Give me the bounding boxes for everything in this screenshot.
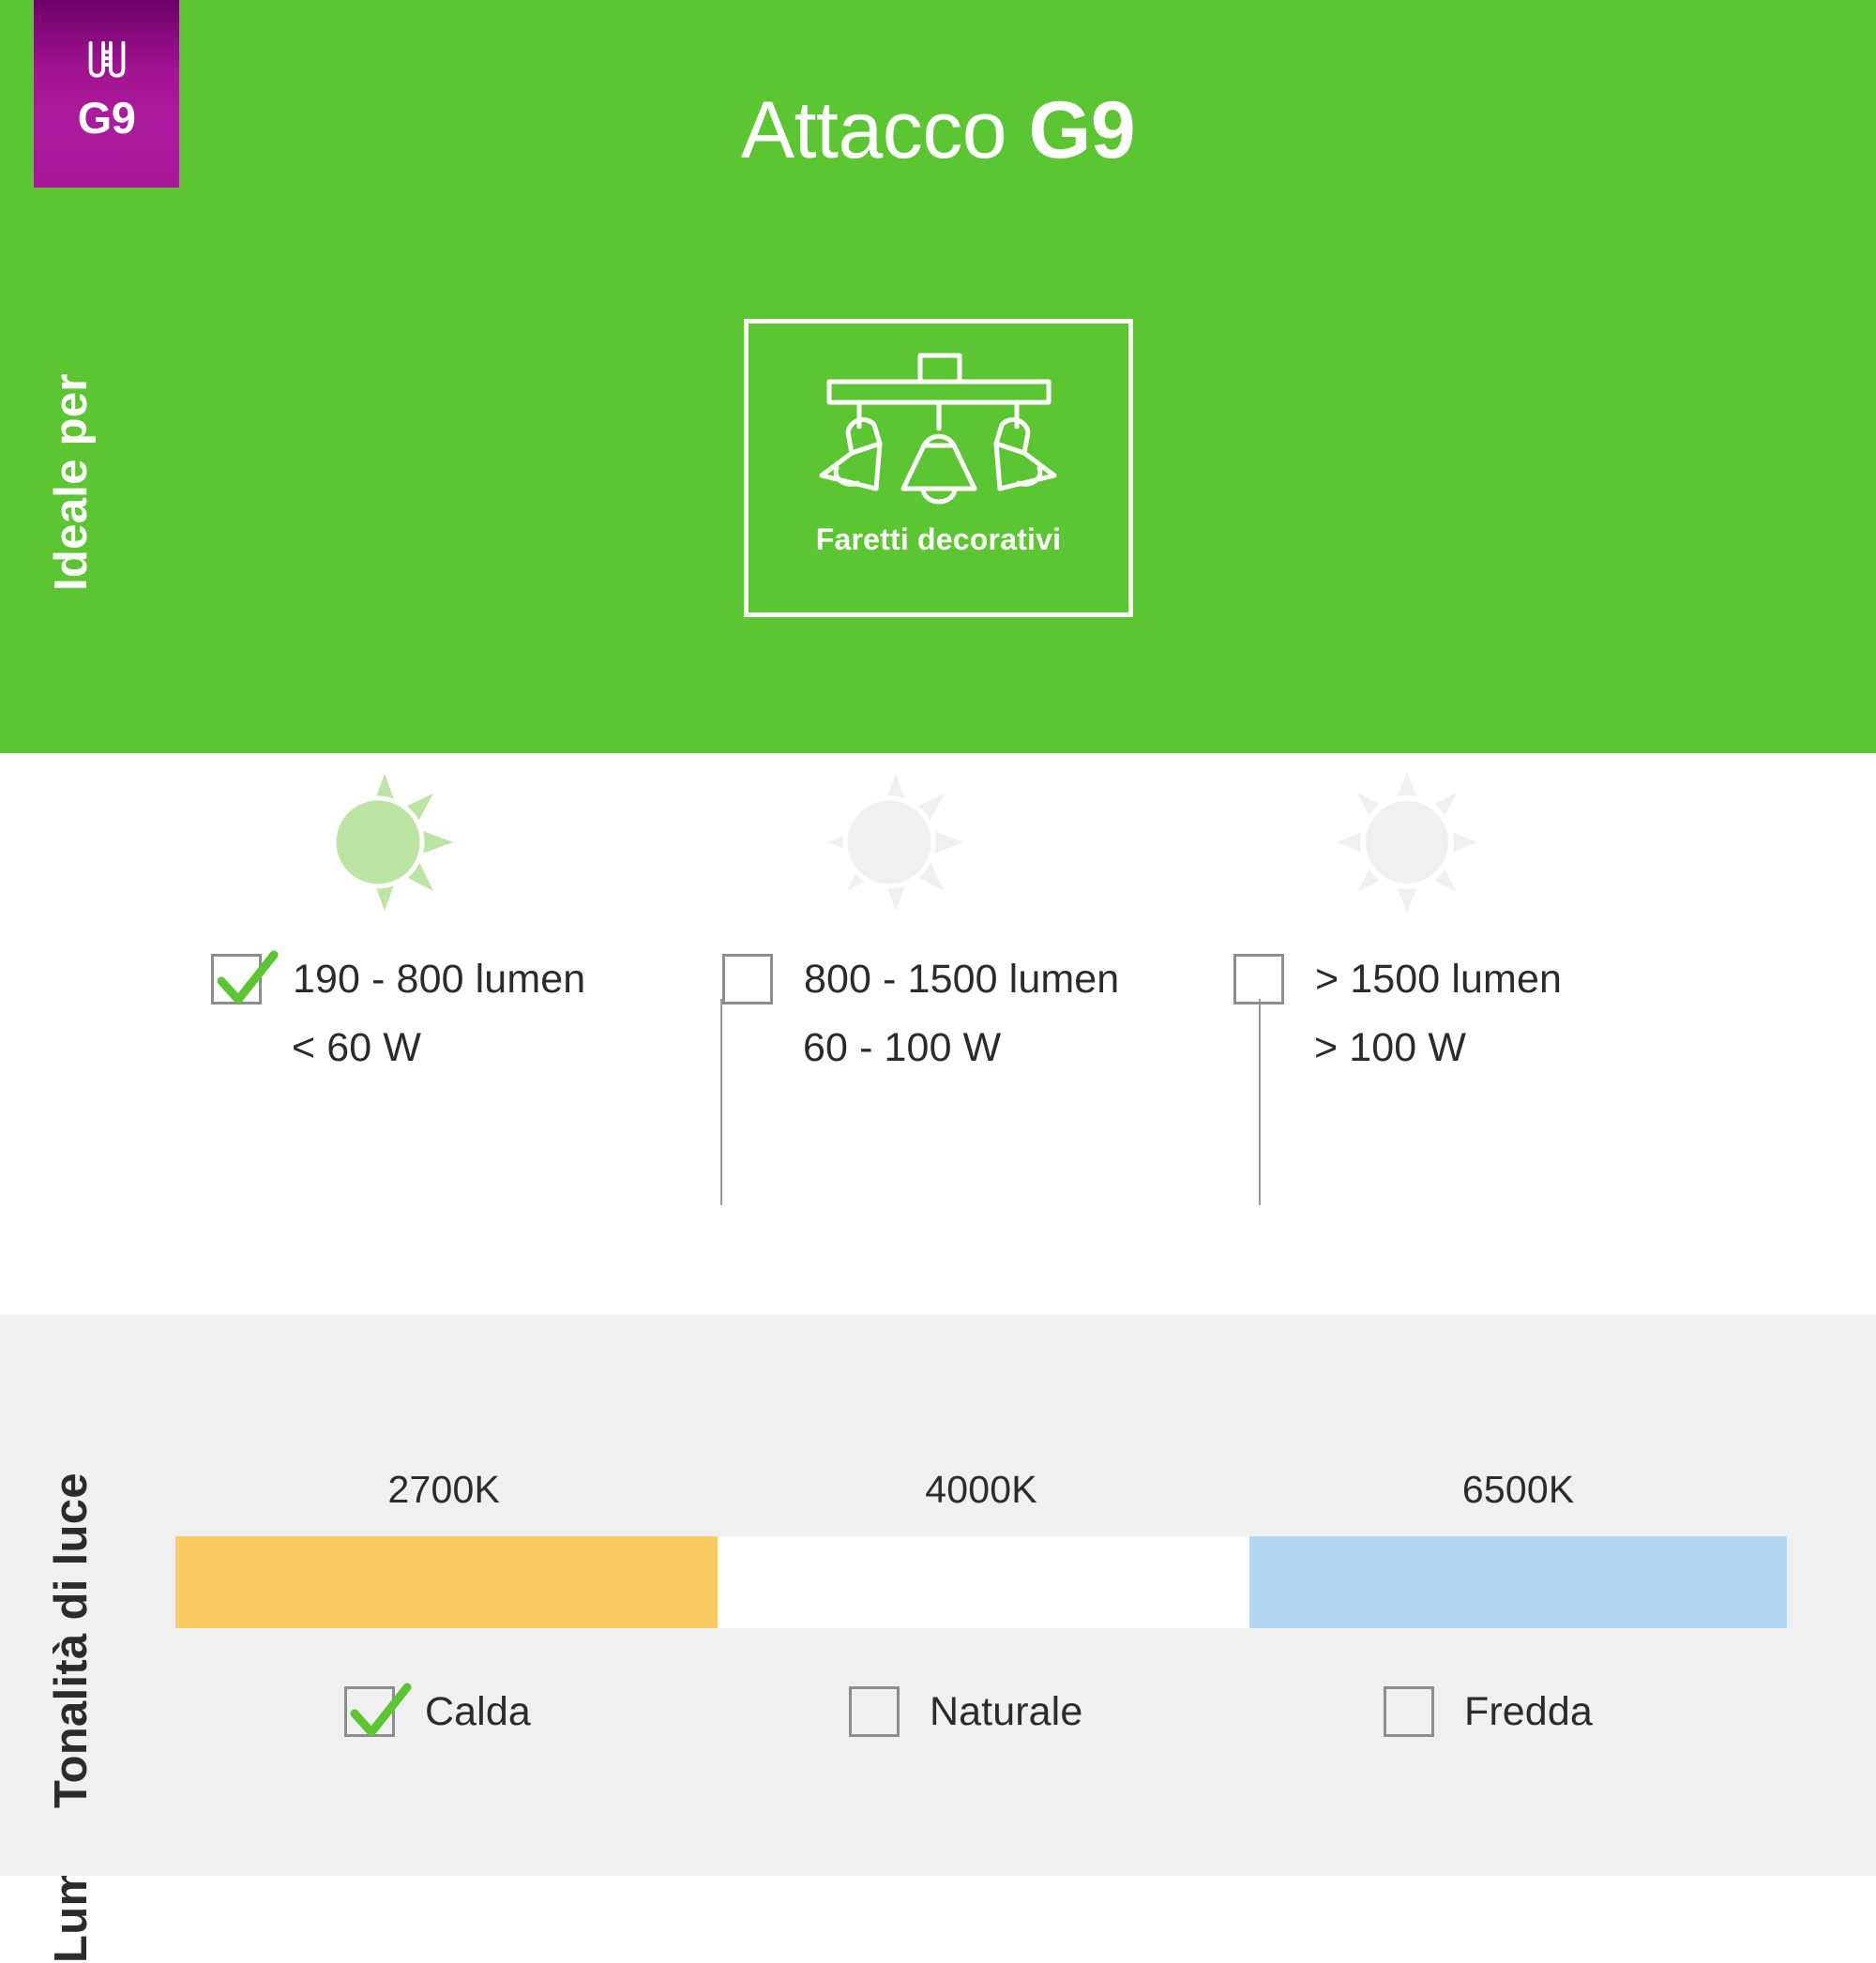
- brightness-checkbox-3[interactable]: [1233, 954, 1284, 1004]
- page-title: Attacco G9: [0, 90, 1876, 171]
- brightness-option-3: > 1500 lumen > 100 W: [1196, 753, 1707, 1315]
- tone-label-calda: Calda: [425, 1689, 531, 1735]
- brightness-lumen-label-3: > 1500 lumen: [1315, 957, 1562, 1003]
- brightness-watt-row-3: > 100 W: [1314, 1025, 1466, 1071]
- tone-checkbox-calda[interactable]: [344, 1686, 395, 1737]
- brightness-checkbox-row-1[interactable]: 190 - 800 lumen: [211, 954, 585, 1004]
- g9-bulb-base-icon: [78, 36, 136, 94]
- tone-label-fredda: Fredda: [1464, 1689, 1593, 1735]
- brightness-watt-label-3: > 100 W: [1314, 1025, 1466, 1071]
- brightness-watt-label-1: < 60 W: [292, 1025, 421, 1071]
- brightness-watt-label-2: 60 - 100 W: [803, 1025, 1001, 1071]
- tone-checkbox-fredda[interactable]: [1384, 1686, 1434, 1737]
- brightness-option-1: 190 - 800 lumen < 60 W: [174, 753, 685, 1315]
- infographic-page: G9 Attacco G9 Ideale per: [0, 0, 1876, 1876]
- page-title-plain: Attacco: [741, 85, 1029, 175]
- temp-segment-neutral: [718, 1536, 1249, 1628]
- brightness-lumen-label-2: 800 - 1500 lumen: [804, 957, 1119, 1003]
- brightness-option-2: 800 - 1500 lumen 60 - 100 W: [685, 753, 1196, 1315]
- hero-section: G9 Attacco G9 Ideale per: [0, 0, 1876, 753]
- check-icon: [210, 945, 281, 1017]
- brightness-checkbox-row-3[interactable]: > 1500 lumen: [1233, 954, 1562, 1004]
- temp-segment-warm: [175, 1536, 718, 1628]
- brightness-watt-row-1: < 60 W: [292, 1025, 421, 1071]
- usecase-caption: Faretti decorativi: [816, 522, 1061, 557]
- kelvin-label-2700k: 2700K: [175, 1468, 713, 1512]
- sun-high-icon: [1337, 772, 1477, 913]
- tone-label-naturale: Naturale: [930, 1689, 1082, 1735]
- brightness-section: 190 - 800 lumen < 60 W: [0, 753, 1876, 1315]
- brightness-lumen-label-1: 190 - 800 lumen: [293, 957, 585, 1003]
- sun-low-icon: [314, 772, 455, 913]
- tone-checkbox-naturale[interactable]: [849, 1686, 900, 1737]
- tone-option-calda[interactable]: Calda: [344, 1686, 531, 1737]
- tone-options-row: Calda Naturale Fredda: [175, 1686, 1787, 1752]
- usecase-card: Faretti decorativi: [744, 319, 1133, 617]
- brightness-columns: 190 - 800 lumen < 60 W: [174, 753, 1824, 1315]
- brightness-watt-row-2: 60 - 100 W: [803, 1025, 1001, 1071]
- sun-medium-icon: [825, 772, 966, 913]
- brightness-checkbox-row-2[interactable]: 800 - 1500 lumen: [722, 954, 1119, 1004]
- color-temperature-bar: [175, 1536, 1787, 1628]
- tone-option-naturale[interactable]: Naturale: [849, 1686, 1082, 1737]
- kelvin-label-4000k: 4000K: [713, 1468, 1250, 1512]
- ceiling-spotlight-bar-icon: [812, 352, 1066, 511]
- brightness-checkbox-2[interactable]: [722, 954, 773, 1004]
- temp-segment-cool: [1249, 1536, 1787, 1628]
- brightness-checkbox-1[interactable]: [211, 954, 262, 1004]
- page-title-bold: G9: [1028, 85, 1135, 175]
- check-icon: [343, 1678, 415, 1749]
- tone-option-fredda[interactable]: Fredda: [1384, 1686, 1593, 1737]
- section-label-tonalita-di-luce: Tonalità di luce: [49, 1472, 95, 1808]
- kelvin-labels-row: 2700K 4000K 6500K: [175, 1468, 1787, 1512]
- section-label-ideale-per: Ideale per: [49, 373, 95, 591]
- kelvin-label-6500k: 6500K: [1249, 1468, 1787, 1512]
